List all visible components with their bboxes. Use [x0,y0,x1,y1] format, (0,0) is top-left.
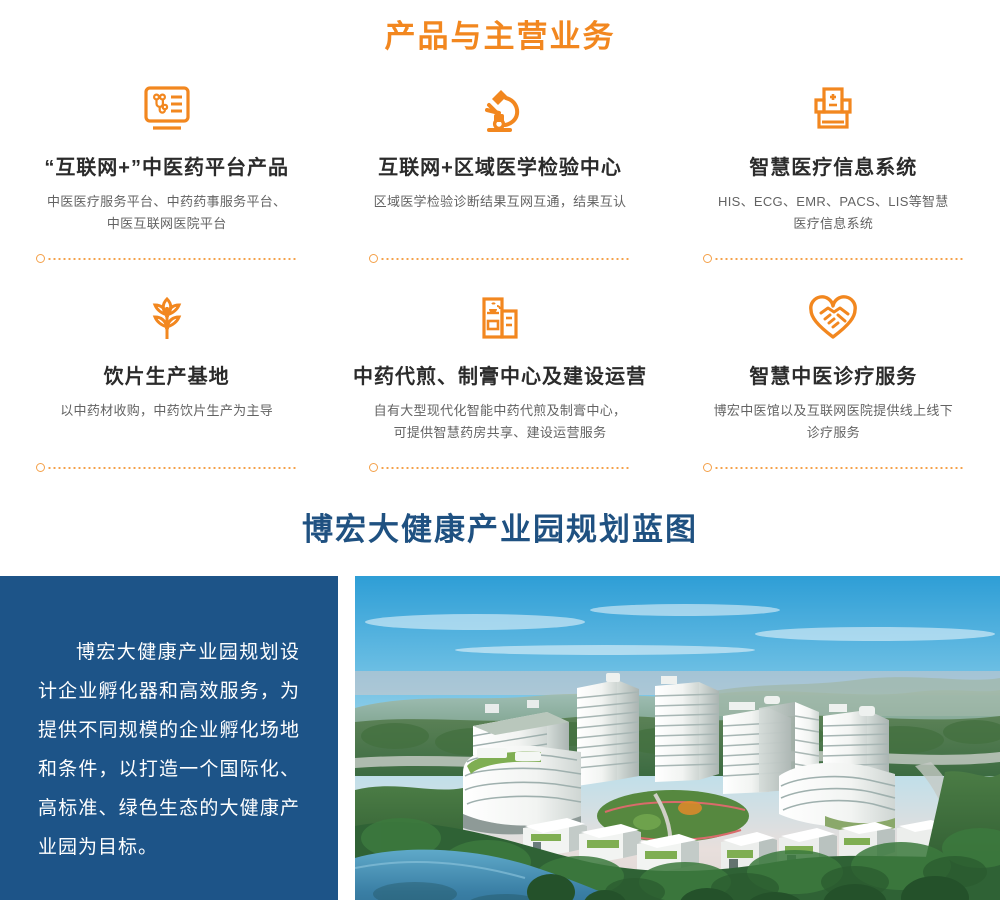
product-card-desc: HIS、ECG、EMR、PACS、LIS等智慧医疗信息系统 [685,191,982,234]
products-section-title: 产品与主营业务 [0,0,1000,55]
dotted-divider [36,463,297,473]
divider-dots [380,467,630,469]
product-card-internet-plus-tcm[interactable]: “互联网+”中医药平台产品 中医医疗服务平台、中药药事服务平台、中医互联网医院平… [0,81,333,248]
aerial-architectural-rendering [355,576,1000,900]
product-card-title: 智慧中医诊疗服务 [685,364,982,390]
divider-cell-6 [667,457,1000,473]
medical-record-monitor-icon [18,81,315,139]
product-card-desc: 以中药材收购，中药饮片生产为主导 [18,400,315,421]
product-card-desc: 博宏中医馆以及互联网医院提供线上线下诊疗服务 [685,400,982,443]
divider-cell-1 [0,248,333,264]
divider-circle-icon [369,254,378,263]
divider-dots [47,467,297,469]
rendering-artwork [355,576,1000,900]
page-root: 产品与主营业务 [0,0,1000,900]
row-spacer [0,264,1000,290]
teapot-building-icon [351,290,648,348]
wheat-herb-icon [18,290,315,348]
product-card-title: 智慧医疗信息系统 [685,155,982,181]
blueprint-text-panel: 博宏大健康产业园规划设计企业孵化器和高效服务，为提供不同规模的企业孵化场地和条件… [0,576,338,900]
panel-image-gap [338,576,355,900]
divider-dots [380,258,630,260]
product-card-title: 中药代煎、制膏中心及建设运营 [351,364,648,390]
product-card-title: 互联网+区域医学检验中心 [351,155,648,181]
product-card-desc: 自有大型现代化智能中药代煎及制膏中心，可提供智慧药房共享、建设运营服务 [351,400,648,443]
blueprint-body: 博宏大健康产业园规划设计企业孵化器和高效服务，为提供不同规模的企业孵化场地和条件… [0,576,1000,900]
hospital-building-icon [685,81,982,139]
microscope-icon [351,81,648,139]
product-card-title: 饮片生产基地 [18,364,315,390]
divider-dots [714,467,964,469]
product-card-desc: 区域医学检验诊断结果互网互通，结果互认 [351,191,648,212]
dotted-divider [369,463,630,473]
handshake-heart-icon [685,290,982,348]
products-card-grid: “互联网+”中医药平台产品 中医医疗服务平台、中药药事服务平台、中医互联网医院平… [0,81,1000,473]
divider-cell-3 [667,248,1000,264]
dotted-divider [703,254,964,264]
dotted-divider [369,254,630,264]
blueprint-panel-text: 博宏大健康产业园规划设计企业孵化器和高效服务，为提供不同规模的企业孵化场地和条件… [38,634,300,868]
dotted-divider [36,254,297,264]
divider-cell-4 [0,457,333,473]
divider-circle-icon [369,463,378,472]
divider-cell-2 [333,248,666,264]
divider-cell-5 [333,457,666,473]
product-card-desc: 中医医疗服务平台、中药药事服务平台、中医互联网医院平台 [18,191,315,234]
divider-circle-icon [703,463,712,472]
divider-dots [714,258,964,260]
product-card-smart-hospital-system[interactable]: 智慧医疗信息系统 HIS、ECG、EMR、PACS、LIS等智慧医疗信息系统 [667,81,1000,248]
divider-circle-icon [36,463,45,472]
blueprint-section-title: 博宏大健康产业园规划蓝图 [0,511,1000,548]
dotted-divider [703,463,964,473]
divider-circle-icon [703,254,712,263]
product-card-regional-lab-center[interactable]: 互联网+区域医学检验中心 区域医学检验诊断结果互网互通，结果互认 [333,81,666,248]
product-card-decoction-center[interactable]: 中药代煎、制膏中心及建设运营 自有大型现代化智能中药代煎及制膏中心，可提供智慧药… [333,290,666,457]
products-section: 产品与主营业务 [0,0,1000,473]
product-card-herb-production-base[interactable]: 饮片生产基地 以中药材收购，中药饮片生产为主导 [0,290,333,457]
product-card-title: “互联网+”中医药平台产品 [18,155,315,181]
product-card-smart-tcm-clinic[interactable]: 智慧中医诊疗服务 博宏中医馆以及互联网医院提供线上线下诊疗服务 [667,290,1000,457]
blueprint-section: 博宏大健康产业园规划蓝图 博宏大健康产业园规划设计企业孵化器和高效服务，为提供不… [0,511,1000,900]
divider-dots [47,258,297,260]
divider-circle-icon [36,254,45,263]
